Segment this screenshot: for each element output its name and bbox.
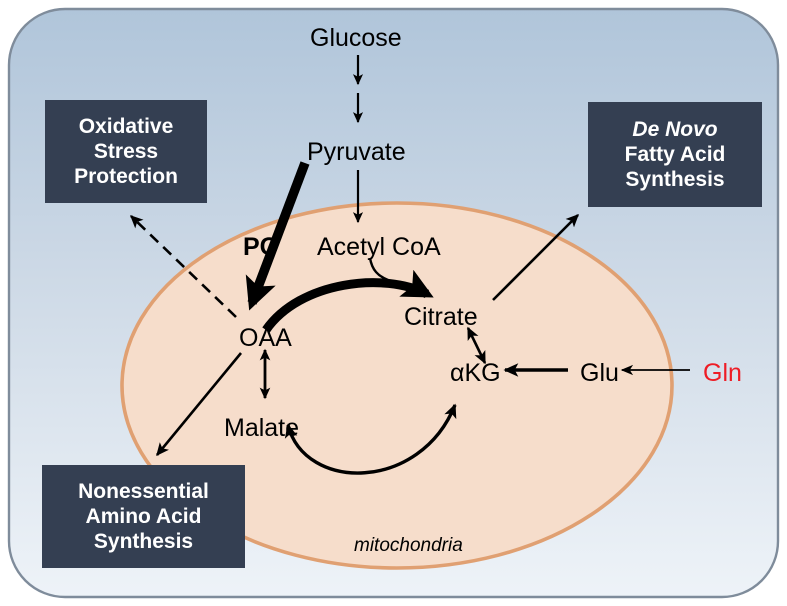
output-box-line: Stress xyxy=(94,139,158,164)
output-box-line: Oxidative xyxy=(79,114,174,139)
metabolite-akg: αKG xyxy=(450,361,501,386)
output-box-nonessential-amino-acid-synthesis[interactable]: Nonessential Amino Acid Synthesis xyxy=(42,465,245,568)
output-box-line: Fatty Acid xyxy=(625,142,726,167)
organelle-label-mitochondria: mitochondria xyxy=(354,536,463,555)
metabolite-glucose: Glucose xyxy=(310,26,402,51)
output-box-line: Synthesis xyxy=(94,529,193,554)
metabolite-acetyl-coa: Acetyl CoA xyxy=(317,235,441,260)
metabolite-pyruvate: Pyruvate xyxy=(307,140,406,165)
output-box-line: Synthesis xyxy=(625,167,724,192)
output-box-line: De Novo xyxy=(632,117,717,142)
metabolite-glu: Glu xyxy=(580,361,619,386)
output-box-de-novo-fatty-acid-synthesis[interactable]: De Novo Fatty Acid Synthesis xyxy=(588,102,762,207)
metabolite-oaa: OAA xyxy=(239,326,292,351)
metabolite-citrate: Citrate xyxy=(404,305,478,330)
output-box-line: Protection xyxy=(74,164,178,189)
enzyme-label-pc: PC xyxy=(243,235,278,260)
diagram-canvas: Oxidative Stress Protection (dashed) -->… xyxy=(0,0,787,606)
output-box-line: Amino Acid xyxy=(86,504,202,529)
output-box-oxidative-stress-protection[interactable]: Oxidative Stress Protection xyxy=(45,100,207,203)
metabolite-malate: Malate xyxy=(224,416,299,441)
output-box-line: Nonessential xyxy=(78,479,209,504)
metabolite-gln: Gln xyxy=(703,361,742,386)
